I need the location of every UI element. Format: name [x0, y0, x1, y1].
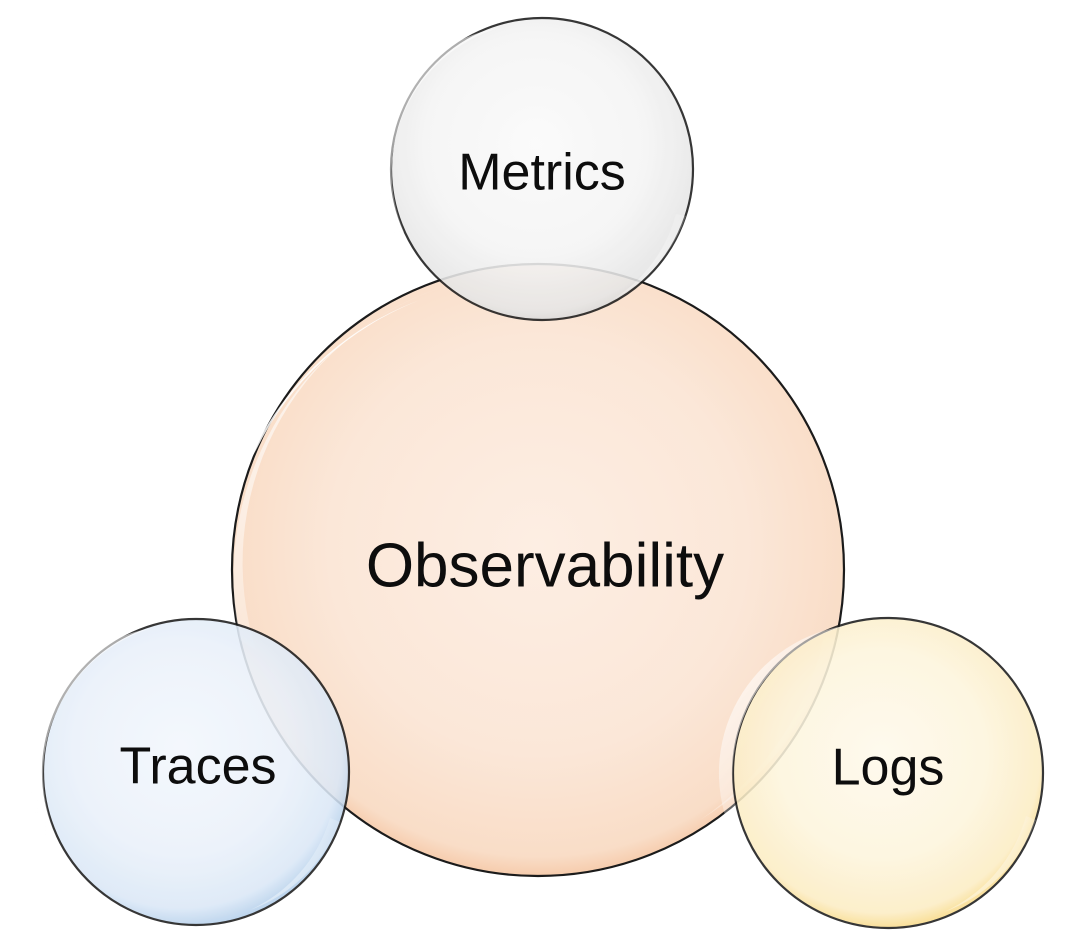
observability-label: Observability	[366, 531, 724, 600]
logs-label: Logs	[832, 739, 945, 797]
traces-label: Traces	[120, 738, 277, 796]
metrics-label: Metrics	[458, 144, 626, 202]
observability-venn-diagram: Observability Metrics Traces Logs	[0, 0, 1082, 942]
venn-canvas: Observability Metrics Traces Logs	[0, 0, 1082, 942]
